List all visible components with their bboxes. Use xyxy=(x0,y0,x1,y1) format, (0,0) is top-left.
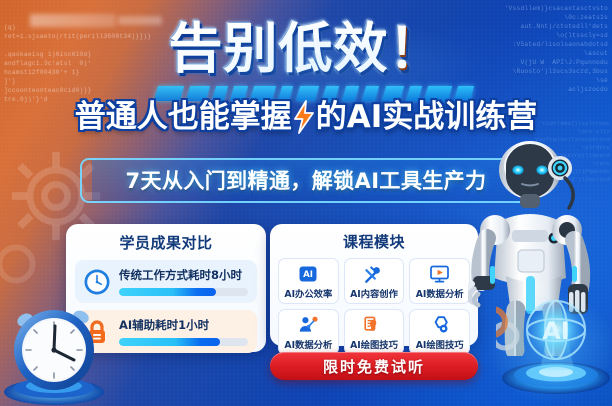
module-label-ai-data-1: AI数据分析 xyxy=(411,286,468,300)
cta-button[interactable]: 限时免费试听 xyxy=(270,352,478,380)
promo-banner: { (q) ret=i.sjsaetn(rtit(perill3608t34)}… xyxy=(0,0,612,406)
progress-track-traditional xyxy=(119,288,248,296)
pen-brush-icon xyxy=(346,263,403,285)
module-label-ai-content: AI内容创作 xyxy=(346,286,403,300)
modules-card-title: 课程模块 xyxy=(278,231,470,252)
module-item-ai-content[interactable]: AI内容创作 xyxy=(344,258,405,304)
result-label-traditional: 传统工作方式耗时8小时 xyxy=(119,267,248,283)
hexagon-gear-icon xyxy=(411,314,468,336)
svg-text:AI: AI xyxy=(303,270,313,280)
gear-watermark-small-icon xyxy=(0,232,48,296)
tagline-pill: 7天从入门到精通，解锁AI工具生产力 xyxy=(92,158,521,203)
module-item-ai-data-1[interactable]: AI数据分析 xyxy=(409,258,470,304)
results-card-title: 学员成果对比 xyxy=(75,232,257,253)
module-label-ai-data-2: AI数据分析 xyxy=(280,337,337,351)
result-label-ai: AI辅助耗时1小时 xyxy=(119,317,248,333)
module-item-ai-drawing-1[interactable]: AI绘图技巧 xyxy=(344,309,405,355)
ai-badge-icon: AI xyxy=(280,263,337,285)
module-item-ai-drawing-2[interactable]: AI绘图技巧 xyxy=(409,309,470,355)
headline-text: 告别低效 xyxy=(169,17,389,80)
ai-hologram-illustration: AI xyxy=(496,292,612,406)
subtitle-text-before: 普通人也能掌握 xyxy=(75,99,292,135)
page-title: 告别低效！ xyxy=(0,22,612,76)
module-item-ai-office[interactable]: AI AI办公效率 xyxy=(278,258,339,304)
module-label-ai-drawing-2: AI绘图技巧 xyxy=(411,337,468,351)
headline-exclamation: ！ xyxy=(389,17,444,80)
lightning-bolt-icon xyxy=(291,100,317,134)
monitor-play-icon xyxy=(411,263,468,285)
module-label-ai-drawing-1: AI绘图技巧 xyxy=(346,337,403,351)
person-chart-icon xyxy=(280,314,337,336)
module-label-ai-office: AI办公效率 xyxy=(280,286,337,300)
modules-card: 课程模块 AI AI办公效率 xyxy=(270,224,478,346)
clock-icon xyxy=(83,268,111,296)
module-item-ai-data-2[interactable]: AI数据分析 xyxy=(278,309,339,355)
result-body-traditional: 传统工作方式耗时8小时 xyxy=(119,267,248,296)
result-body-ai: AI辅助耗时1小时 xyxy=(119,317,248,346)
progress-track-ai xyxy=(119,338,248,346)
alarm-clock-illustration xyxy=(0,298,116,406)
result-row-traditional: 传统工作方式耗时8小时 xyxy=(75,260,257,303)
document-brush-icon xyxy=(346,314,403,336)
hologram-label: AI xyxy=(542,317,570,345)
progress-fill-traditional xyxy=(119,288,216,296)
module-grid: AI AI办公效率 AI内容创作 xyxy=(278,258,470,355)
progress-fill-ai xyxy=(119,338,220,346)
